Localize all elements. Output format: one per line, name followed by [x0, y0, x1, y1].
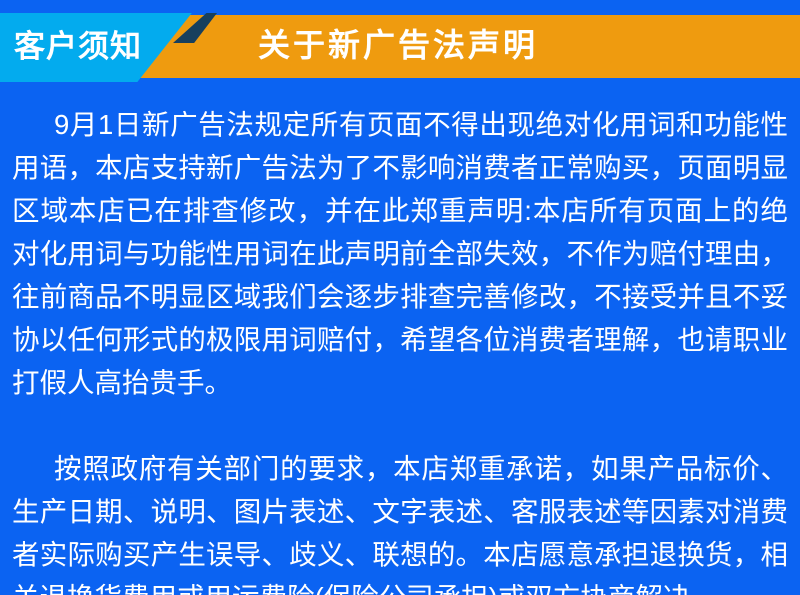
paragraph: 按照政府有关部门的要求，本店郑重承诺，如果产品标价、生产日期、说明、图片表述、文…	[12, 447, 788, 595]
paragraph: 9月1日新广告法规定所有页面不得出现绝对化用词和功能性用语，本店支持新广告法为了…	[12, 103, 788, 404]
header-banner: 客户须知 关于新广告法声明	[0, 0, 800, 92]
banner-title: 关于新广告法声明	[258, 19, 538, 71]
banner-tag-label: 客户须知	[14, 21, 142, 73]
announcement-page: 客户须知 关于新广告法声明 9月1日新广告法规定所有页面不得出现绝对化用词和功能…	[0, 0, 800, 595]
announcement-body: 9月1日新广告法规定所有页面不得出现绝对化用词和功能性用语，本店支持新广告法为了…	[12, 103, 788, 595]
